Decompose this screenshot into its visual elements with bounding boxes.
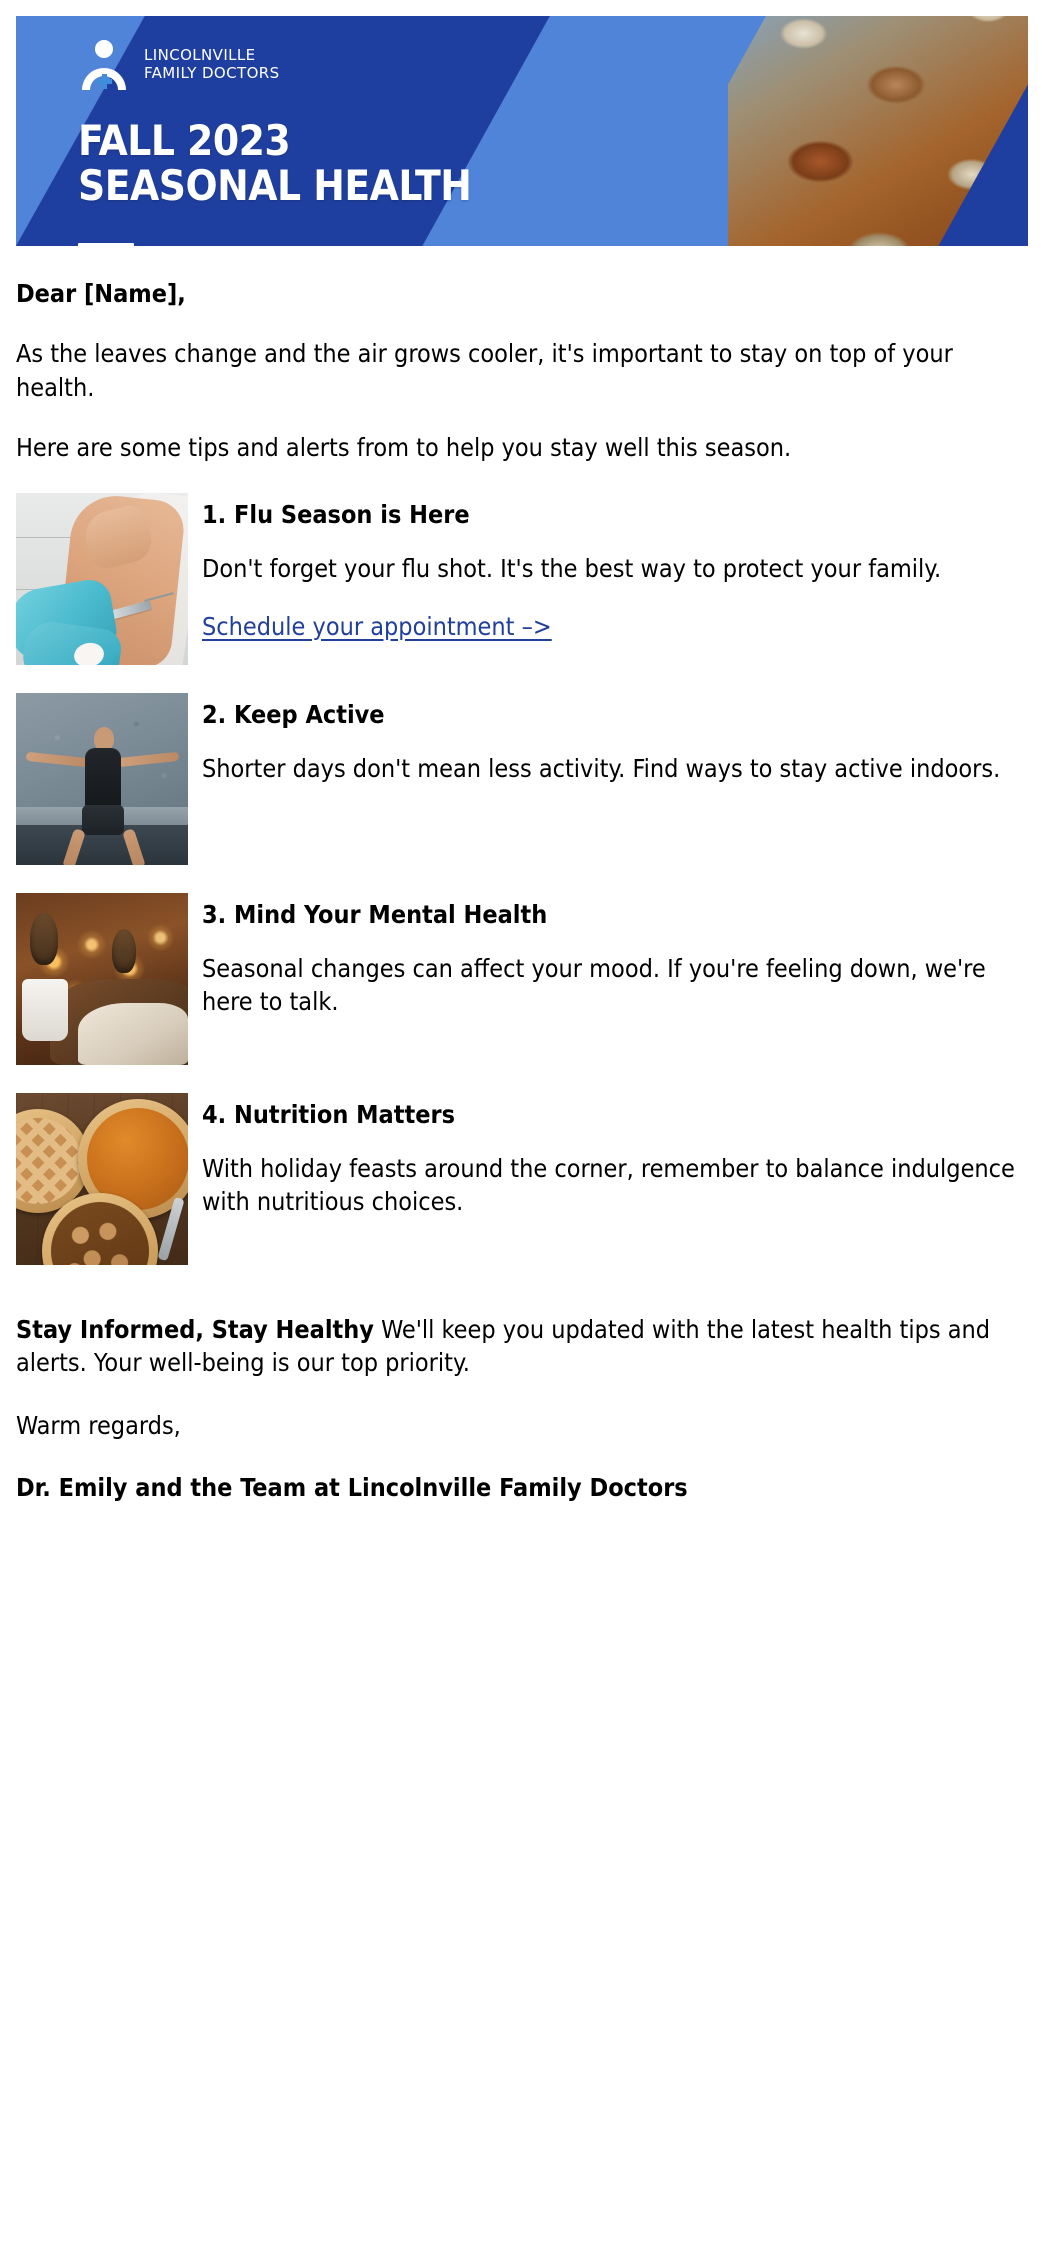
- tip-item: 1. Flu Season is Here Don't forget your …: [16, 493, 1028, 665]
- tip-content: 3. Mind Your Mental Health Seasonal chan…: [202, 893, 1028, 1018]
- tip-description: Seasonal changes can affect your mood. I…: [202, 952, 1028, 1018]
- signature: Dr. Emily and the Team at Lincolnville F…: [16, 1472, 1028, 1545]
- tip-description: Don't forget your flu shot. It's the bes…: [202, 552, 1028, 585]
- headline-line-2: SEASONAL HEALTH: [78, 161, 471, 210]
- tip-item: 3. Mind Your Mental Health Seasonal chan…: [16, 893, 1028, 1065]
- tip-title: 3. Mind Your Mental Health: [202, 899, 1028, 930]
- person-with-medical-cross-icon: [78, 38, 130, 92]
- headline-line-1: FALL 2023: [78, 116, 290, 165]
- newsletter-email: LINCOLNVILLE FAMILY DOCTORS FALL 2023 SE…: [0, 16, 1044, 2266]
- tip-title: 4. Nutrition Matters: [202, 1099, 1028, 1130]
- header-banner: LINCOLNVILLE FAMILY DOCTORS FALL 2023 SE…: [16, 16, 1028, 246]
- fall-leaves-photo-inner: [728, 16, 1028, 246]
- regards-line: Warm regards,: [16, 1410, 1028, 1443]
- tip-item: 4. Nutrition Matters With holiday feasts…: [16, 1093, 1028, 1265]
- brand-name: LINCOLNVILLE FAMILY DOCTORS: [144, 47, 280, 82]
- closing-paragraph: Stay Informed, Stay Healthy We'll keep y…: [16, 1313, 1028, 1380]
- intro-paragraph-2: Here are some tips and alerts from to he…: [16, 431, 1028, 465]
- pies-image: [16, 1093, 188, 1265]
- banner-headline: FALL 2023 SEASONAL HEALTH: [78, 118, 471, 209]
- schedule-appointment-link[interactable]: Schedule your appointment –>: [202, 611, 552, 644]
- banner-content: LINCOLNVILLE FAMILY DOCTORS FALL 2023 SE…: [16, 16, 471, 246]
- tip-title: 1. Flu Season is Here: [202, 499, 1028, 530]
- yoga-pose-image: [16, 693, 188, 865]
- tip-content: 4. Nutrition Matters With holiday feasts…: [202, 1093, 1028, 1218]
- tip-title: 2. Keep Active: [202, 699, 1028, 730]
- tip-description: Shorter days don't mean less activity. F…: [202, 752, 1028, 785]
- brand-line-1: LINCOLNVILLE: [144, 46, 256, 64]
- intro-paragraph-1: As the leaves change and the air grows c…: [16, 337, 1028, 405]
- banner-divider-rule: [78, 243, 134, 246]
- flu-shot-image: [16, 493, 188, 665]
- tip-description: With holiday feasts around the corner, r…: [202, 1152, 1028, 1218]
- tip-content: 2. Keep Active Shorter days don't mean l…: [202, 693, 1028, 785]
- cozy-blankets-image: [16, 893, 188, 1065]
- greeting: Dear [Name],: [16, 278, 1028, 311]
- closing-lead-bold: Stay Informed, Stay Healthy: [16, 1315, 374, 1344]
- brand-line-2: FAMILY DOCTORS: [144, 64, 280, 82]
- email-body: Dear [Name], As the leaves change and th…: [0, 278, 1044, 1545]
- tip-item: 2. Keep Active Shorter days don't mean l…: [16, 693, 1028, 865]
- tip-content: 1. Flu Season is Here Don't forget your …: [202, 493, 1028, 644]
- brand-logo: LINCOLNVILLE FAMILY DOCTORS: [78, 38, 471, 92]
